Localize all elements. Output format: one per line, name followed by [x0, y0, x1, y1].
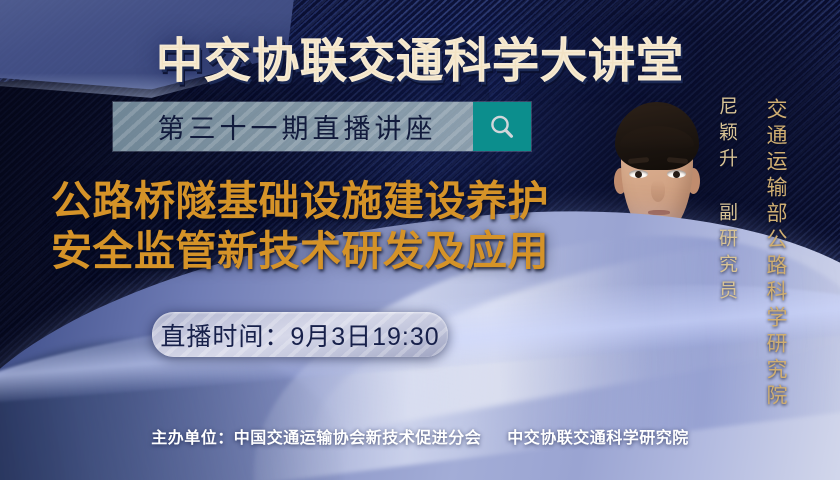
session-label: 第三十一期直播讲座 [113, 107, 473, 146]
broadcast-time-badge: 直播时间：9月3日19:30 [152, 312, 448, 357]
lecture-title: 公路桥隧基础设施建设养护 安全监管新技术研发及应用 [26, 176, 574, 276]
session-bar: 第三十一期直播讲座 [113, 102, 531, 151]
footer-organizers: 主办单位：中国交通运输协会新技术促进分会中交协联交通科学研究院 [0, 424, 840, 448]
footer-organizer-secondary: 中交协联交通科学研究院 [507, 430, 689, 447]
search-icon [487, 112, 517, 142]
speaker-organization: 交通运输部公路科学研究院 [760, 98, 790, 410]
search-button[interactable] [473, 102, 531, 151]
speaker-name-title: 尼颖升 副研究员 [714, 96, 740, 306]
lecture-title-line-2: 安全监管新技术研发及应用 [26, 226, 574, 276]
broadcast-time-text: 直播时间：9月3日19:30 [160, 317, 439, 353]
page-title: 中交协联交通科学大讲堂 [0, 22, 840, 91]
footer-organizer-primary: 主办单位：中国交通运输协会新技术促进分会 [151, 430, 481, 447]
live-lecture-poster: 中交协联交通科学大讲堂 第三十一期直播讲座 公路桥隧基础设施建设养护 安全监管新… [0, 0, 840, 480]
lecture-title-line-1: 公路桥隧基础设施建设养护 [26, 176, 574, 226]
